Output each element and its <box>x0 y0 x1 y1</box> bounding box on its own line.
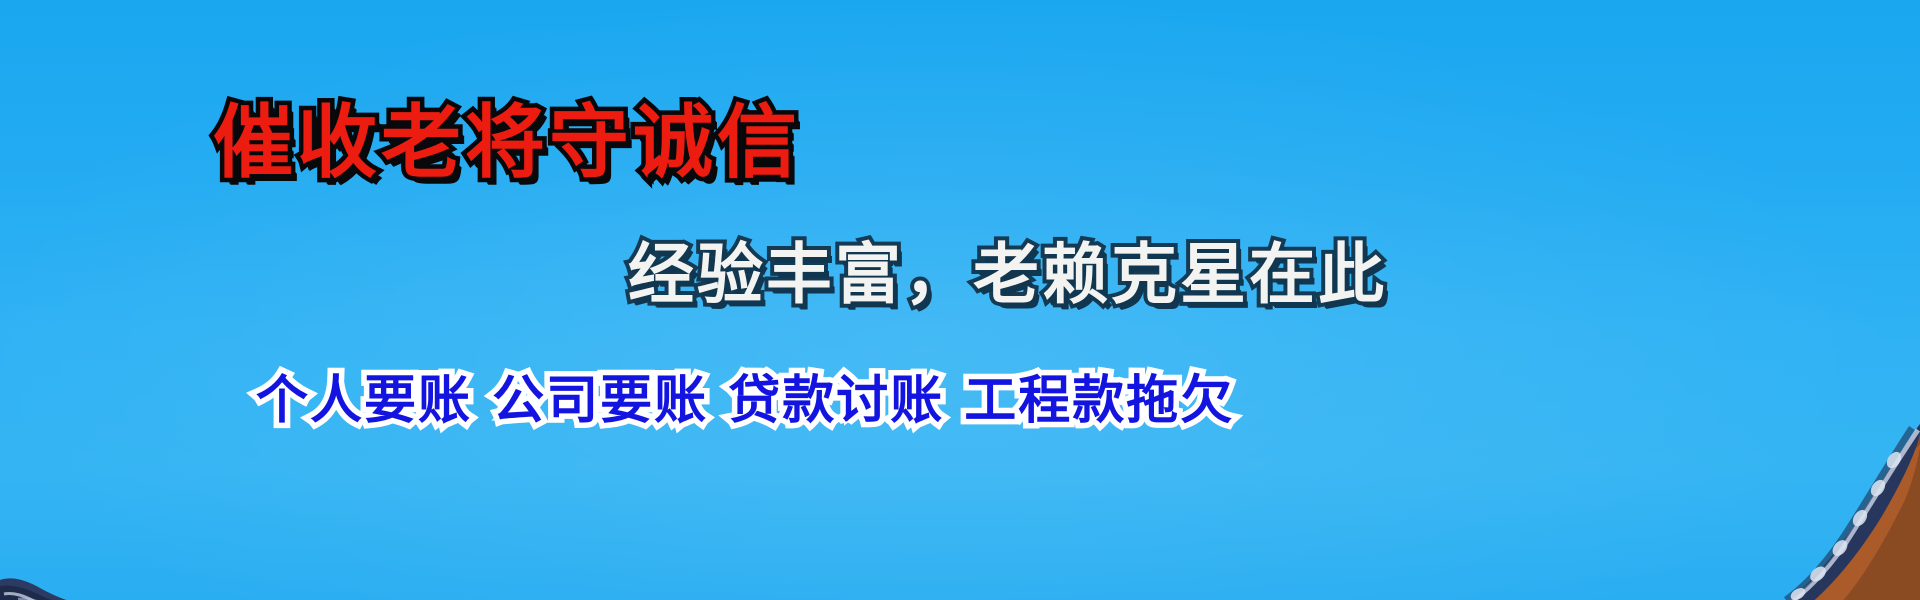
banner-text-block: 催收老将守诚信 经验丰富，老赖克星在此 个人要账 公司要账 贷款讨账 工程款拖欠 <box>0 0 1920 600</box>
promo-banner: 催收老将守诚信 经验丰富，老赖克星在此 个人要账 公司要账 贷款讨账 工程款拖欠 <box>0 0 1920 600</box>
banner-services-list: 个人要账 公司要账 贷款讨账 工程款拖欠 <box>256 358 1234 433</box>
banner-headline: 催收老将守诚信 <box>213 78 801 194</box>
banner-subheading: 经验丰富，老赖克星在此 <box>628 221 1387 317</box>
